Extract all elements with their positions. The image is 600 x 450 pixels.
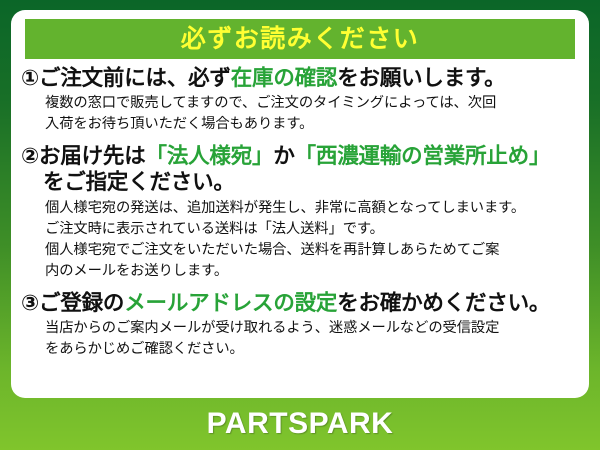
item-2-highlight-corporate: 「法人様宛」	[146, 144, 274, 168]
notice-banner: 必ずお読みください ①ご注文前には、必ず在庫の確認をお願いします。 複数の窓口で…	[0, 0, 600, 450]
item-number-3: ③	[21, 291, 39, 315]
notice-item-3: ③ご登録のメールアドレスの設定をお確かめください。 当店からのご案内メールが受け…	[21, 290, 581, 360]
item-2-sub-line-0: 個人様宅宛の発送は、追加送料が発生し、非常に高額となってしまいます。	[45, 198, 581, 219]
brand-logo-text: PARTSPARK	[207, 409, 394, 439]
notice-item-1: ①ご注文前には、必ず在庫の確認をお願いします。 複数の窓口で販売してますので、ご…	[21, 65, 581, 135]
notice-item-3-subtext: 当店からのご案内メールが受け取れるよう、迷惑メールなどの受信設定 をあらかじめご…	[21, 318, 581, 360]
footer-bar: PARTSPARK	[0, 398, 600, 450]
item-3-segment-0: ご登録の	[39, 291, 124, 315]
notice-item-1-heading: ①ご注文前には、必ず在庫の確認をお願いします。	[21, 65, 581, 91]
item-1-segment-0: ご注文前には、必ず	[39, 66, 231, 90]
notice-item-3-heading: ③ご登録のメールアドレスの設定をお確かめください。	[21, 290, 581, 316]
item-2-segment-0: お届け先は	[39, 144, 146, 168]
item-2-sub-line-1: ご注文時に表示されている送料は「法人送料」です。	[45, 219, 581, 240]
item-1-segment-2: をお願いします。	[337, 66, 505, 90]
notice-item-2-heading-line2: をご指定ください。	[21, 169, 581, 195]
item-1-sub-line-0: 複数の窓口で販売してますので、ご注文のタイミングによっては、次回	[45, 93, 581, 114]
item-2-segment-2: か	[273, 144, 294, 168]
notice-item-2-subtext: 個人様宅宛の発送は、追加送料が発生し、非常に高額となってしまいます。 ご注文時に…	[21, 198, 581, 282]
item-number-2: ②	[21, 144, 39, 168]
notice-item-2: ②お届け先は「法人様宛」か「西濃運輸の営業所止め」 をご指定ください。 個人様宅…	[21, 143, 581, 282]
item-3-sub-line-0: 当店からのご案内メールが受け取れるよう、迷惑メールなどの受信設定	[45, 318, 581, 339]
item-1-highlight: 在庫の確認	[231, 66, 338, 90]
item-2-sub-line-2: 個人様宅宛でご注文をいただいた場合、送料を再計算しあらためてご案	[45, 240, 581, 261]
item-3-sub-line-1: をあらかじめご確認ください。	[45, 339, 581, 360]
page-title: 必ずお読みください	[181, 27, 420, 52]
title-bar: 必ずお読みください	[25, 19, 575, 59]
notice-item-2-heading: ②お届け先は「法人様宛」か「西濃運輸の営業所止め」	[21, 143, 581, 169]
notice-card: 必ずお読みください ①ご注文前には、必ず在庫の確認をお願いします。 複数の窓口で…	[11, 10, 589, 398]
notice-item-1-subtext: 複数の窓口で販売してますので、ご注文のタイミングによっては、次回 入荷をお待ち頂…	[21, 93, 581, 135]
item-1-sub-line-1: 入荷をお待ち頂いただく場合もあります。	[45, 114, 581, 135]
item-3-highlight: メールアドレスの設定	[124, 291, 337, 315]
item-2-sub-line-3: 内のメールをお送りします。	[45, 261, 581, 282]
item-2-highlight-seino: 「西濃運輸の営業所止め」	[295, 144, 551, 168]
item-3-segment-2: をお確かめください。	[337, 291, 550, 315]
item-number-1: ①	[21, 66, 39, 90]
notice-body: ①ご注文前には、必ず在庫の確認をお願いします。 複数の窓口で販売してますので、ご…	[11, 65, 589, 360]
